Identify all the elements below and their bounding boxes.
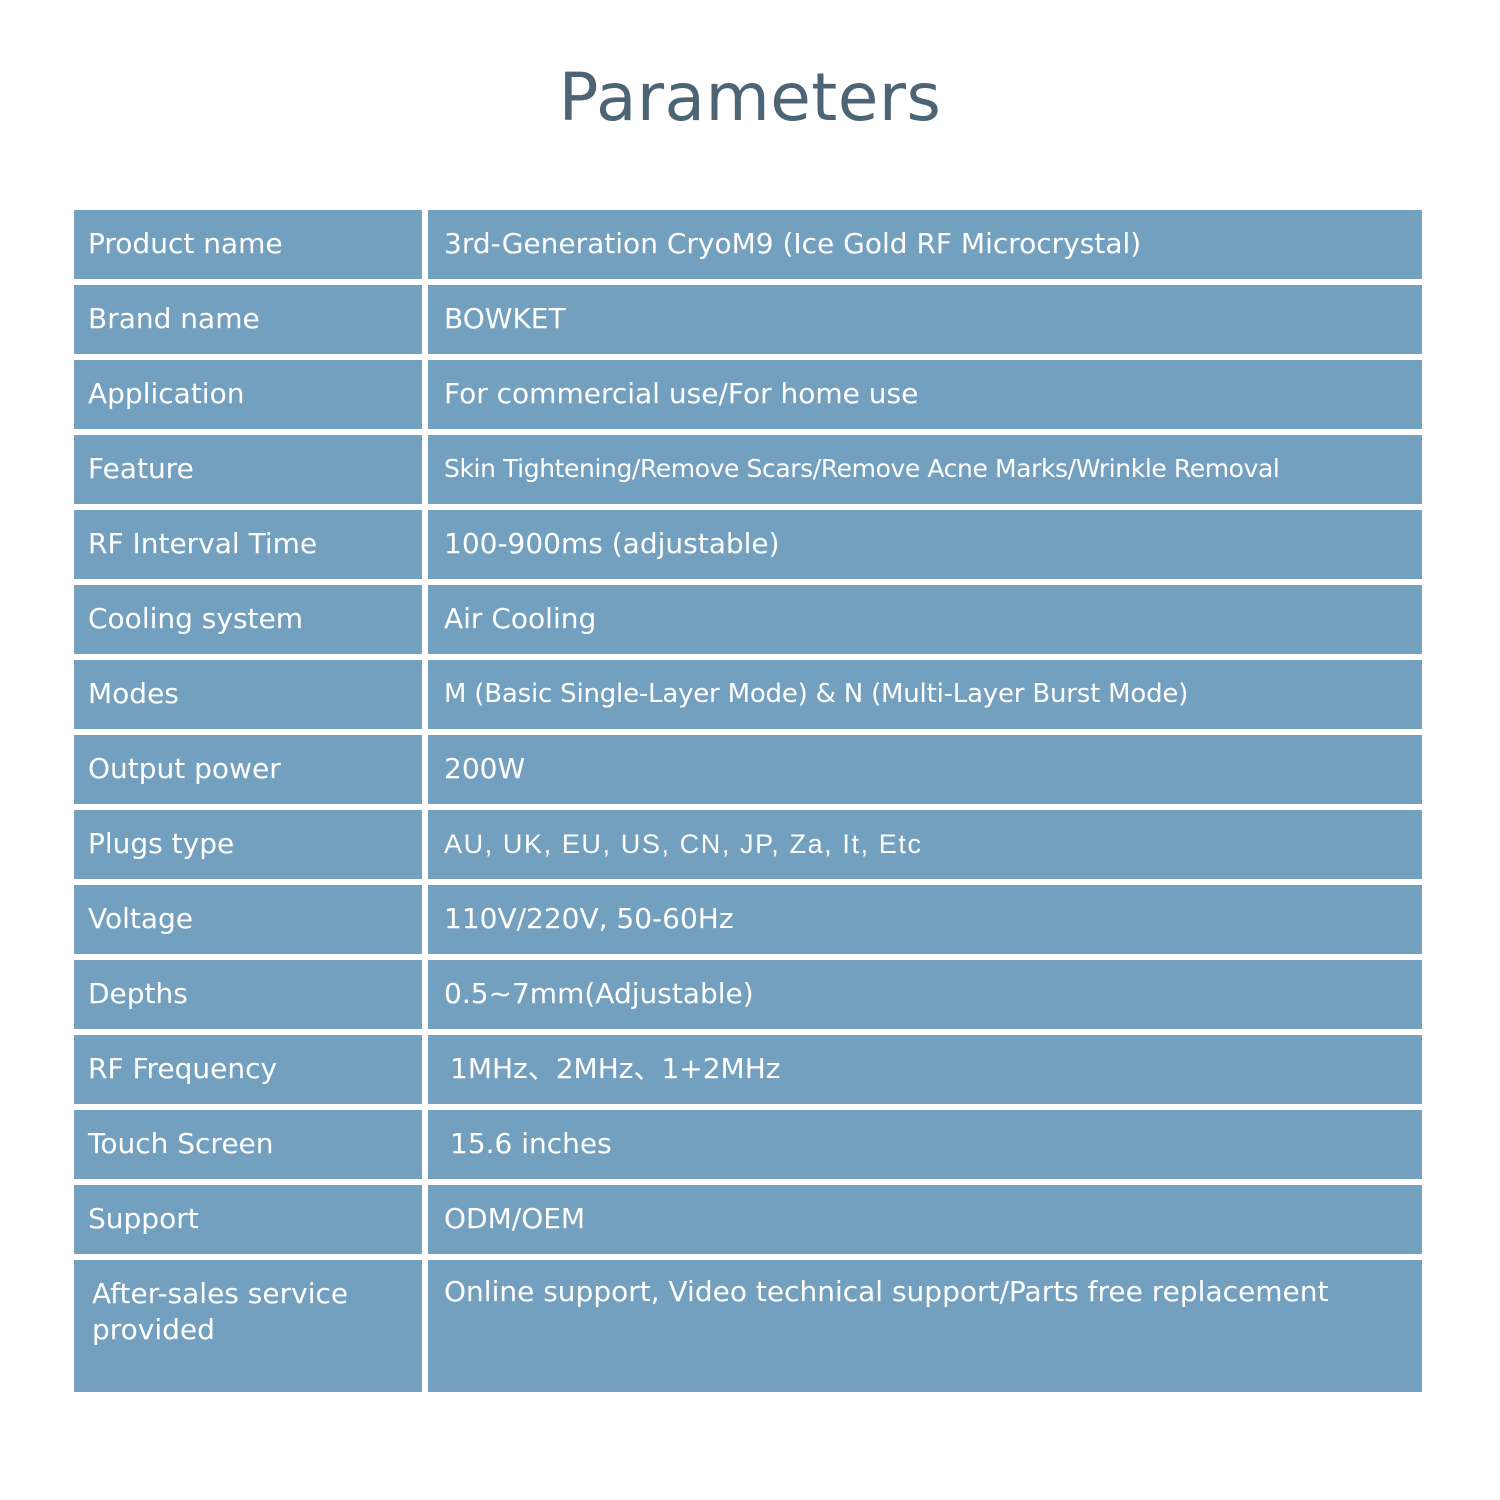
- table-row: Modes M (Basic Single-Layer Mode) & N (M…: [74, 660, 1422, 729]
- spec-label: Brand name: [74, 285, 422, 354]
- page-title-container: Parameters: [0, 62, 1500, 135]
- table-row: Application For commercial use/For home …: [74, 360, 1422, 429]
- spec-label: Modes: [74, 660, 422, 729]
- table-row: Plugs type AU, UK, EU, US, CN, JP, Za, I…: [74, 810, 1422, 879]
- specifications-table: Product name 3rd-Generation CryoM9 (Ice …: [74, 210, 1422, 1398]
- spec-label: Support: [74, 1185, 422, 1254]
- spec-label: RF Interval Time: [74, 510, 422, 579]
- spec-label: Output power: [74, 735, 422, 804]
- spec-value: BOWKET: [428, 285, 1422, 354]
- spec-label: RF Frequency: [74, 1035, 422, 1104]
- spec-label: Cooling system: [74, 585, 422, 654]
- table-row: Touch Screen 15.6 inches: [74, 1110, 1422, 1179]
- spec-label: Feature: [74, 435, 422, 504]
- spec-value: Skin Tightening/Remove Scars/Remove Acne…: [428, 435, 1422, 504]
- spec-label: After-sales service provided: [74, 1260, 422, 1392]
- table-row: Depths 0.5~7mm(Adjustable): [74, 960, 1422, 1029]
- table-row: After-sales service provided Online supp…: [74, 1260, 1422, 1392]
- spec-label: Voltage: [74, 885, 422, 954]
- table-row: Brand name BOWKET: [74, 285, 1422, 354]
- spec-value: 1MHz、2MHz、1+2MHz: [428, 1035, 1422, 1104]
- table-row: RF Interval Time 100-900ms (adjustable): [74, 510, 1422, 579]
- parameters-page: Parameters Product name 3rd-Generation C…: [0, 0, 1500, 1500]
- table-row: RF Frequency 1MHz、2MHz、1+2MHz: [74, 1035, 1422, 1104]
- spec-value: 200W: [428, 735, 1422, 804]
- table-row: Voltage 110V/220V, 50-60Hz: [74, 885, 1422, 954]
- spec-value: 100-900ms (adjustable): [428, 510, 1422, 579]
- spec-label: Depths: [74, 960, 422, 1029]
- spec-label: Product name: [74, 210, 422, 279]
- spec-value: 15.6 inches: [428, 1110, 1422, 1179]
- spec-value: M (Basic Single-Layer Mode) & N (Multi-L…: [428, 660, 1422, 729]
- table-row: Cooling system Air Cooling: [74, 585, 1422, 654]
- spec-value: AU, UK, EU, US, CN, JP, Za, It, Etc: [428, 810, 1422, 879]
- spec-value: Online support, Video technical support/…: [428, 1260, 1422, 1392]
- spec-label: Application: [74, 360, 422, 429]
- table-row: Support ODM/OEM: [74, 1185, 1422, 1254]
- page-title: Parameters: [559, 62, 942, 135]
- table-row: Feature Skin Tightening/Remove Scars/Rem…: [74, 435, 1422, 504]
- spec-value: ODM/OEM: [428, 1185, 1422, 1254]
- spec-value: 110V/220V, 50-60Hz: [428, 885, 1422, 954]
- spec-label: Plugs type: [74, 810, 422, 879]
- spec-value: 0.5~7mm(Adjustable): [428, 960, 1422, 1029]
- spec-value: Air Cooling: [428, 585, 1422, 654]
- table-row: Output power 200W: [74, 735, 1422, 804]
- spec-value: For commercial use/For home use: [428, 360, 1422, 429]
- spec-value: 3rd-Generation CryoM9 (Ice Gold RF Micro…: [428, 210, 1422, 279]
- spec-label: Touch Screen: [74, 1110, 422, 1179]
- table-row: Product name 3rd-Generation CryoM9 (Ice …: [74, 210, 1422, 279]
